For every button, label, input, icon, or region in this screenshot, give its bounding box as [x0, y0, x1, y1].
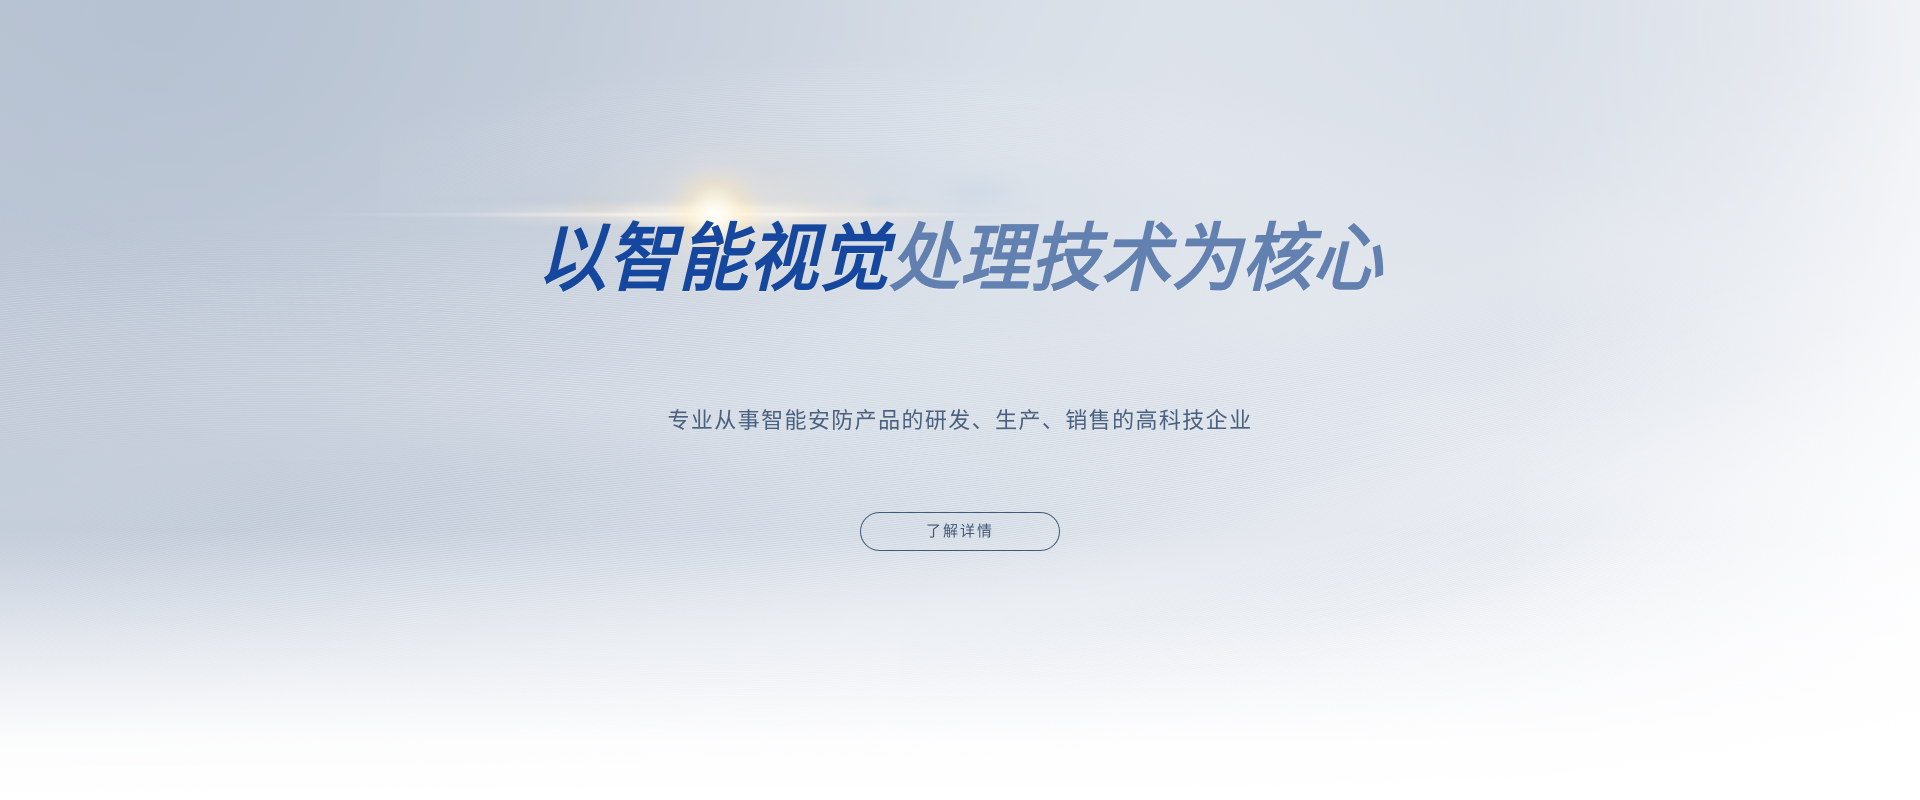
flowing-wave-mesh-icon — [0, 0, 1920, 800]
hero-banner: 以智能视觉处理技术为核心 专业从事智能安防产品的研发、生产、销售的高科技企业 了… — [0, 0, 1920, 800]
page-title-highlight: 以智能视觉 — [537, 216, 890, 302]
flare-ghost-far — [929, 172, 1025, 212]
flare-ghost-left — [565, 196, 625, 214]
background-bottom-fade — [0, 530, 1920, 800]
background-right-fade — [1500, 0, 1920, 800]
cta-container: 了解详情 — [0, 512, 1920, 552]
page-title-rest: 处理技术为核心 — [890, 216, 1384, 302]
learn-more-button[interactable]: 了解详情 — [860, 512, 1060, 551]
flare-ghost-near — [859, 192, 905, 212]
page-subtitle: 专业从事智能安防产品的研发、生产、销售的高科技企业 — [0, 404, 1920, 438]
page-title: 以智能视觉处理技术为核心 — [58, 216, 1863, 302]
